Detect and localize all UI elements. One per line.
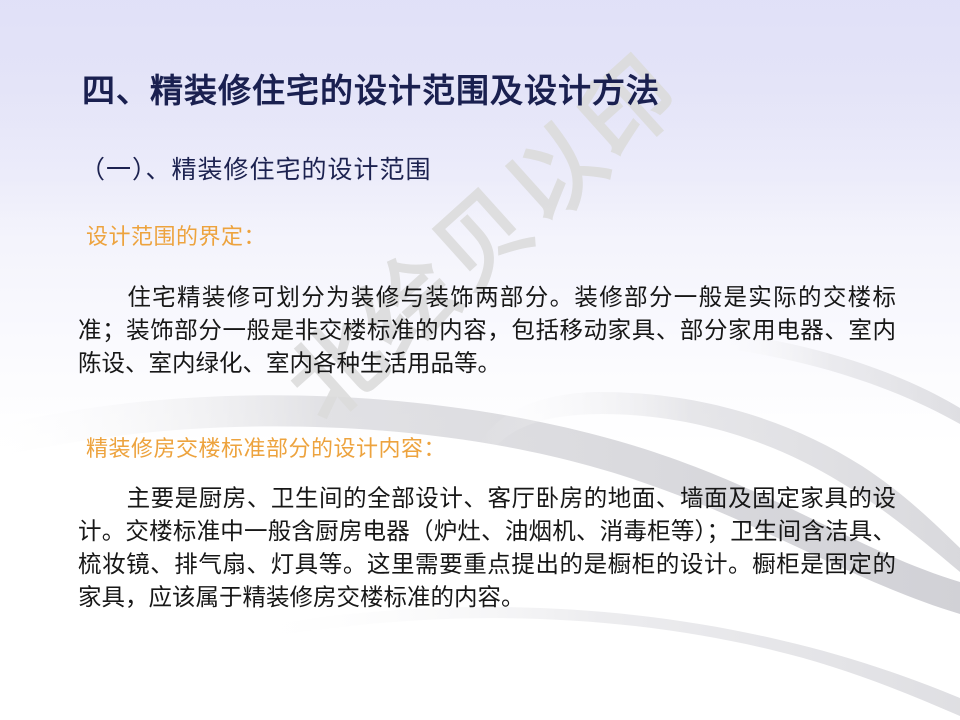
section-heading-design-scope-definition: 设计范围的界定： <box>86 219 266 251</box>
slide-title: 四、精装修住宅的设计范围及设计方法 <box>82 64 660 112</box>
section-heading-delivery-standard-content: 精装修房交楼标准部分的设计内容： <box>86 431 446 463</box>
body-paragraph-1: 住宅精装修可划分为装修与装饰两部分。装修部分一般是实际的交楼标准；装饰部分一般是… <box>78 281 896 380</box>
body-paragraph-2-text: 主要是厨房、卫生间的全部设计、客厅卧房的地面、墙面及固定家具的设计。交楼标准中一… <box>78 485 896 610</box>
body-paragraph-1-text: 住宅精装修可划分为装修与装饰两部分。装修部分一般是实际的交楼标准；装饰部分一般是… <box>78 284 896 376</box>
body-paragraph-2: 主要是厨房、卫生间的全部设计、客厅卧房的地面、墙面及固定家具的设计。交楼标准中一… <box>78 482 896 614</box>
presentation-slide: 北绘贝以印 四、精装修住宅的设计范围及设计方法 （一）、精装修住宅的设计范围 设… <box>0 0 960 720</box>
slide-subtitle: （一）、精装修住宅的设计范围 <box>80 150 432 186</box>
slide-content: 四、精装修住宅的设计范围及设计方法 （一）、精装修住宅的设计范围 设计范围的界定… <box>0 0 960 720</box>
